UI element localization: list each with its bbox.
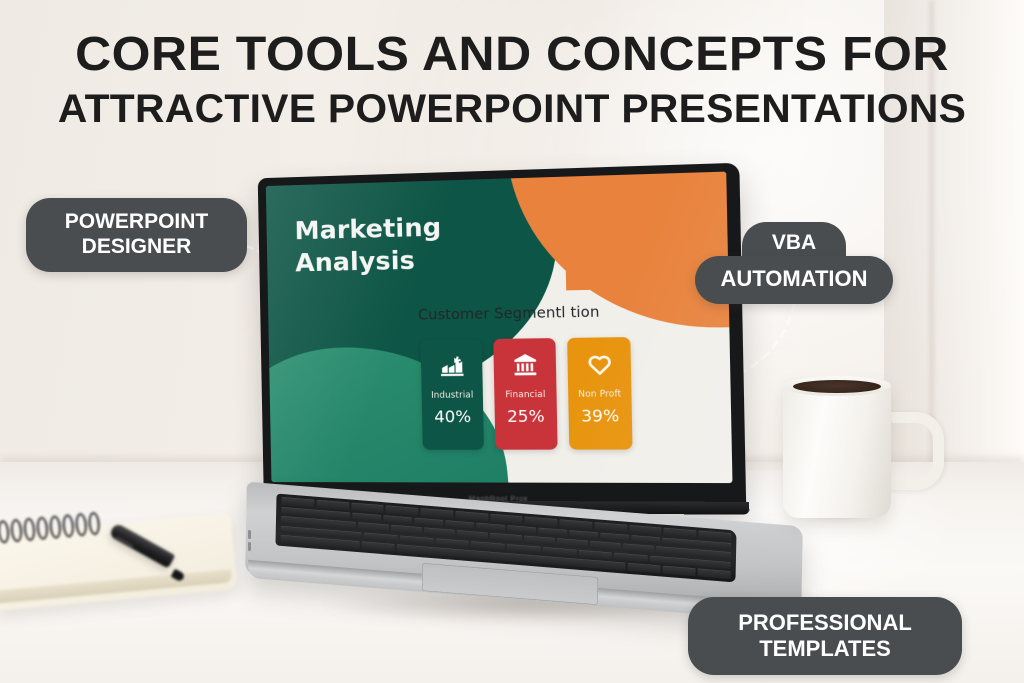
stat-card-non-profit: Non Proft 39% — [567, 337, 632, 450]
stat-card-value: 40% — [434, 407, 471, 427]
stat-card-financial: Financial 25% — [493, 338, 557, 450]
badge-professional-templates[interactable]: PROFESSIONAL TEMPLATES — [688, 597, 962, 675]
headline-line-2: ATTRACTIVE POWERPOINT PRESENTATIONS — [0, 89, 1024, 131]
slide-title-line-1: Marketing — [294, 211, 441, 247]
badge-line-1: POWERPOINT — [34, 210, 239, 235]
slide-title-line-2: Analysis — [295, 243, 442, 278]
stat-card-value: 25% — [507, 406, 545, 426]
coffee-mug — [779, 372, 927, 522]
badge-line-1: VBA — [695, 231, 893, 255]
stat-card-industrial: Industrial 40% — [421, 339, 484, 450]
badge-line-1: PROFESSIONAL — [696, 610, 954, 636]
badge-vba-automation[interactable]: VBA AUTOMATION — [695, 222, 893, 304]
badge-line-2: TEMPLATES — [696, 636, 954, 662]
badge-powerpoint-designer[interactable]: POWERPOINT DESIGNER — [26, 198, 247, 272]
factory-icon — [438, 353, 465, 380]
slide-title: Marketing Analysis — [294, 211, 442, 278]
slide-subtitle: Customer Segmentl tion — [418, 304, 600, 323]
stat-card-label: Industrial — [431, 390, 474, 401]
bank-icon — [511, 352, 539, 379]
promotional-graphic: CORE TOOLS AND CONCEPTS FOR ATTRACTIVE P… — [0, 0, 1024, 683]
mug-body — [783, 380, 891, 518]
laptop-screen[interactable]: Marketing Analysis Customer Segmentl tio… — [266, 172, 733, 484]
page-title: CORE TOOLS AND CONCEPTS FOR ATTRACTIVE P… — [0, 30, 1024, 131]
stat-card-value: 39% — [581, 406, 619, 426]
headline-line-1: CORE TOOLS AND CONCEPTS FOR — [0, 30, 1024, 80]
stat-card-label: Non Proft — [578, 389, 621, 400]
badge-line-2: DESIGNER — [34, 235, 239, 260]
laptop-lid: Marketing Analysis Customer Segmentl tio… — [258, 163, 747, 511]
mug-handle — [882, 412, 944, 490]
badge-line-2: AUTOMATION — [695, 266, 893, 292]
stat-card-label: Financial — [505, 390, 545, 401]
presentation-slide: Marketing Analysis Customer Segmentl tio… — [266, 172, 733, 484]
coffee-surface — [793, 380, 881, 393]
notepad-with-pen — [0, 516, 252, 626]
slide-stat-cards: Industrial 40% — [421, 337, 633, 450]
heart-icon — [585, 351, 613, 378]
